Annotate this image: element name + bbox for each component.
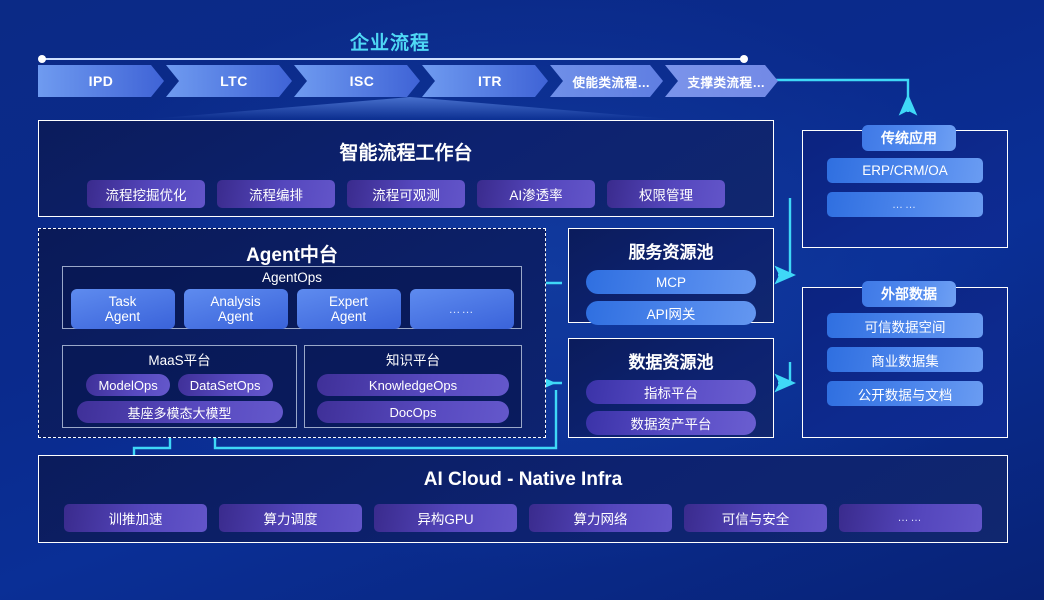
knowledge-platform-panel: 知识平台 KnowledgeOps DocOps xyxy=(304,345,522,428)
infra-title: AI Cloud - Native Infra xyxy=(39,469,1007,491)
agent-card-more-line1: …… xyxy=(449,302,475,317)
infra-item-compute-network[interactable]: 算力网络 xyxy=(529,504,672,532)
service-pool-row-1: MCP xyxy=(569,270,773,294)
external-data-item-public-data-docs[interactable]: 公开数据与文档 xyxy=(827,381,983,406)
agent-card-task-line2: Agent xyxy=(105,309,140,324)
maas-item-foundation-model[interactable]: 基座多模态大模型 xyxy=(77,401,283,423)
external-data-item-commercial-datasets[interactable]: 商业数据集 xyxy=(827,347,983,372)
agent-card-analysis-line2: Agent xyxy=(218,309,253,324)
agentops-label: AgentOps xyxy=(63,270,521,285)
agent-card-analysis[interactable]: Analysis Agent xyxy=(184,289,288,329)
workbench-item-ai-penetration[interactable]: AI渗透率 xyxy=(477,180,595,208)
data-resource-pool-title: 数据资源池 xyxy=(569,348,773,373)
service-resource-pool-title: 服务资源池 xyxy=(569,238,773,263)
intelligent-process-workbench-panel: 智能流程工作台 流程挖掘优化 流程编排 流程可观测 AI渗透率 权限管理 xyxy=(38,120,774,217)
traditional-apps-chip[interactable]: 传统应用 xyxy=(862,125,956,151)
workbench-item-observability[interactable]: 流程可观测 xyxy=(347,180,465,208)
workbench-title: 智能流程工作台 xyxy=(39,138,773,165)
agent-card-analysis-line1: Analysis xyxy=(210,294,260,309)
rail-dot-right xyxy=(740,55,748,63)
service-pool-row-2: API网关 xyxy=(569,301,773,325)
service-resource-pool-panel: 服务资源池 MCP API网关 xyxy=(568,228,774,323)
external-data-panel: 可信数据空间 商业数据集 公开数据与文档 xyxy=(802,287,1008,438)
chevron-itr[interactable]: ITR xyxy=(422,65,548,97)
maas-row-2: 基座多模态大模型 xyxy=(63,401,296,423)
data-pool-row-1: 指标平台 xyxy=(569,380,773,404)
workbench-item-orchestration[interactable]: 流程编排 xyxy=(217,180,335,208)
page-title: 企业流程 xyxy=(0,28,780,55)
agent-card-task-line1: Task xyxy=(109,294,137,309)
process-chevron-bar: IPD LTC ISC ITR 使能类流程… 支撑类流程… xyxy=(38,65,780,97)
chevron-isc[interactable]: ISC xyxy=(294,65,420,97)
data-resource-pool-panel: 数据资源池 指标平台 数据资产平台 xyxy=(568,338,774,438)
traditional-apps-row-2: …… xyxy=(803,192,1007,217)
infra-item-heterogeneous-gpu[interactable]: 异构GPU xyxy=(374,504,517,532)
service-pool-item-api-gateway[interactable]: API网关 xyxy=(586,301,756,325)
maas-platform-title: MaaS平台 xyxy=(63,349,296,369)
data-pool-item-data-asset-platform[interactable]: 数据资产平台 xyxy=(586,411,756,435)
traditional-apps-row-1: ERP/CRM/OA xyxy=(803,158,1007,183)
knowledge-row-2: DocOps xyxy=(305,401,521,423)
infra-item-more[interactable]: …… xyxy=(839,504,982,532)
agent-card-expert[interactable]: Expert Agent xyxy=(297,289,401,329)
infra-item-compute-scheduling[interactable]: 算力调度 xyxy=(219,504,362,532)
infra-items: 训推加速 算力调度 异构GPU 算力网络 可信与安全 …… xyxy=(39,504,1007,532)
knowledge-item-knowledgeops[interactable]: KnowledgeOps xyxy=(317,374,509,396)
rail-dot-left xyxy=(38,55,46,63)
external-data-row-3: 公开数据与文档 xyxy=(803,381,1007,406)
ai-cloud-native-infra-panel: AI Cloud - Native Infra 训推加速 算力调度 异构GPU … xyxy=(38,455,1008,543)
chevron-supporting-process[interactable]: 支撑类流程… xyxy=(665,65,778,97)
service-pool-item-mcp[interactable]: MCP xyxy=(586,270,756,294)
external-data-item-trusted-space[interactable]: 可信数据空间 xyxy=(827,313,983,338)
knowledge-item-docops[interactable]: DocOps xyxy=(317,401,509,423)
infra-item-training-inference-acceleration[interactable]: 训推加速 xyxy=(64,504,207,532)
agentops-cards: Task Agent Analysis Agent Expert Agent …… xyxy=(63,289,521,329)
maas-platform-panel: MaaS平台 ModelOps DataSetOps 基座多模态大模型 xyxy=(62,345,297,428)
agentops-panel: AgentOps Task Agent Analysis Agent Exper… xyxy=(62,266,522,329)
knowledge-platform-title: 知识平台 xyxy=(305,349,521,369)
workbench-item-process-mining[interactable]: 流程挖掘优化 xyxy=(87,180,205,208)
rail-line xyxy=(42,58,744,60)
maas-item-datasetops[interactable]: DataSetOps xyxy=(178,374,273,396)
chevron-ltc[interactable]: LTC xyxy=(166,65,292,97)
workbench-item-permissions[interactable]: 权限管理 xyxy=(607,180,725,208)
chevron-enabling-process[interactable]: 使能类流程… xyxy=(550,65,663,97)
traditional-apps-item-more[interactable]: …… xyxy=(827,192,983,217)
external-data-chip[interactable]: 外部数据 xyxy=(862,281,956,307)
data-pool-row-2: 数据资产平台 xyxy=(569,411,773,435)
agent-platform-title: Agent中台 xyxy=(39,240,545,267)
light-beam xyxy=(150,97,670,119)
diagram-canvas: 企业流程 IPD LTC ISC ITR 使能类流程… 支撑类流程… 智能流程工… xyxy=(0,0,1044,600)
external-data-row-2: 商业数据集 xyxy=(803,347,1007,372)
external-data-row-1: 可信数据空间 xyxy=(803,313,1007,338)
workbench-items: 流程挖掘优化 流程编排 流程可观测 AI渗透率 权限管理 xyxy=(39,180,773,208)
agent-card-expert-line1: Expert xyxy=(329,294,368,309)
data-pool-item-metrics-platform[interactable]: 指标平台 xyxy=(586,380,756,404)
process-rail xyxy=(38,57,748,61)
maas-item-modelops[interactable]: ModelOps xyxy=(86,374,169,396)
agent-card-task[interactable]: Task Agent xyxy=(71,289,175,329)
infra-item-trust-security[interactable]: 可信与安全 xyxy=(684,504,827,532)
knowledge-row-1: KnowledgeOps xyxy=(305,374,521,396)
chevron-ipd[interactable]: IPD xyxy=(38,65,164,97)
traditional-apps-item-erp[interactable]: ERP/CRM/OA xyxy=(827,158,983,183)
maas-row-1: ModelOps DataSetOps xyxy=(63,374,296,396)
agent-card-expert-line2: Agent xyxy=(331,309,366,324)
agent-card-more[interactable]: …… xyxy=(410,289,514,329)
